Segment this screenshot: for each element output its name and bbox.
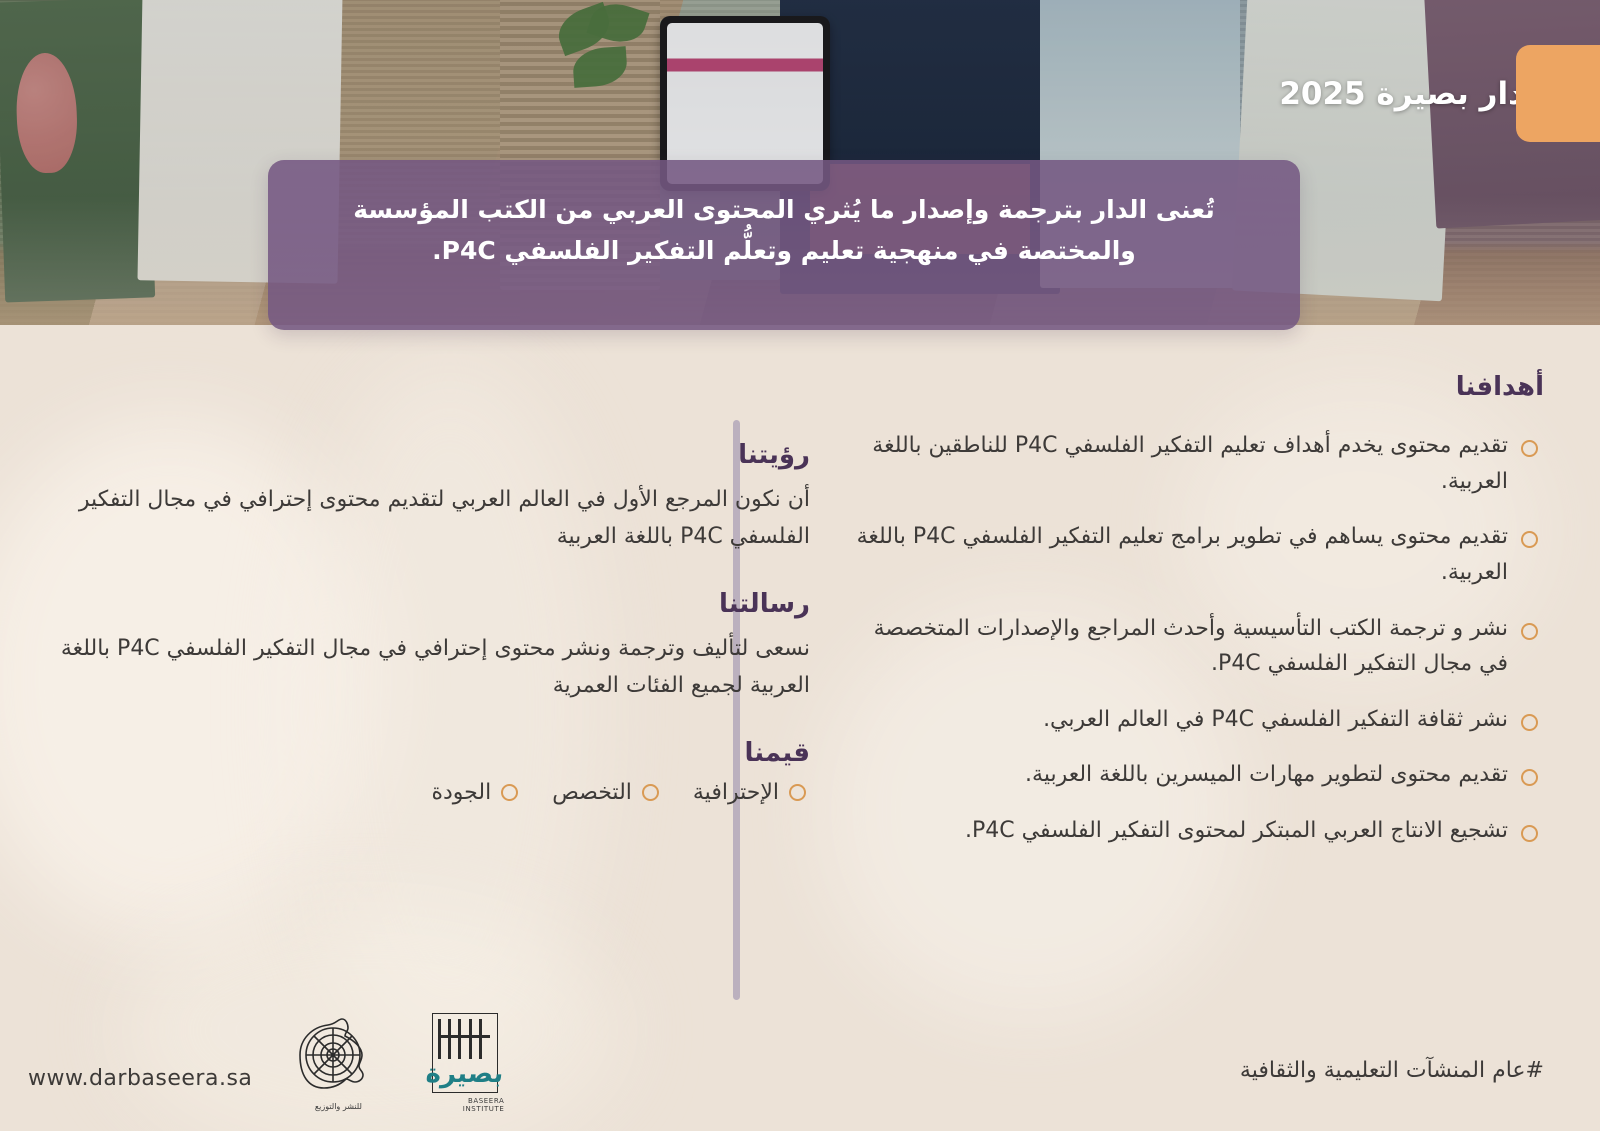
bullet-circle-icon <box>789 784 806 801</box>
website-url: www.darbaseera.sa <box>28 1066 252 1109</box>
list-item: التخصص <box>552 780 659 805</box>
list-item: نشر ثقافة التفكير الفلسفي P4C في العالم … <box>844 702 1544 738</box>
campaign-hashtag: #عام المنشآت التعليمية والثقافية <box>1240 1058 1544 1083</box>
logo-subtitle: للنشر والتوزيع <box>278 1102 398 1111</box>
dar-baseera-logo: للنشر والتوزيع <box>278 1009 398 1109</box>
list-item: الإحترافية <box>693 780 806 805</box>
footer-branding: بصيرة BASEERA INSTITUTE للنشر والتوزيع w… <box>28 1009 504 1109</box>
list-item: الجودة <box>431 780 518 805</box>
value-label: الإحترافية <box>693 780 779 805</box>
vision-text: أن نكون المرجع الأول في العالم العربي لت… <box>60 482 810 555</box>
value-label: التخصص <box>552 780 632 805</box>
goals-heading: أهدافنا <box>844 372 1544 402</box>
list-item: نشر و ترجمة الكتب التأسيسية وأحدث المراج… <box>844 611 1544 682</box>
mission-text: نسعى لتأليف وترجمة ونشر محتوى إحترافي في… <box>60 631 810 704</box>
vision-mission-values-section: رؤيتنا أن نكون المرجع الأول في العالم ال… <box>60 440 810 805</box>
baseera-institute-logo: بصيرة BASEERA INSTITUTE <box>424 1013 504 1109</box>
intro-statement-text: تُعنى الدار بترجمة وإصدار ما يُثري المحت… <box>308 190 1260 271</box>
goals-list: تقديم محتوى يخدم أهداف تعليم التفكير الف… <box>844 428 1544 849</box>
intro-statement-banner: تُعنى الدار بترجمة وإصدار ما يُثري المحت… <box>268 160 1300 330</box>
goals-section: أهدافنا تقديم محتوى يخدم أهداف تعليم الت… <box>844 372 1544 869</box>
values-list: الإحترافية التخصص الجودة <box>60 780 810 805</box>
logo-subtitle: BASEERA INSTITUTE <box>428 1097 504 1113</box>
page-title: دار بصيرة 2025 <box>1279 76 1524 112</box>
list-item: تقديم محتوى يساهم في تطوير برامج تعليم ا… <box>844 519 1544 590</box>
bullet-circle-icon <box>501 784 518 801</box>
vision-heading: رؤيتنا <box>60 440 810 470</box>
kufi-pattern-icon <box>438 1019 490 1059</box>
list-item: تقديم محتوى يخدم أهداف تعليم التفكير الف… <box>844 428 1544 499</box>
list-item: تقديم محتوى لتطوير مهارات الميسرين باللغ… <box>844 757 1544 793</box>
logo-wordmark: بصيرة <box>425 1059 506 1089</box>
value-label: الجودة <box>431 780 491 805</box>
values-heading: قيمنا <box>60 738 810 768</box>
mission-heading: رسالتنا <box>60 589 810 619</box>
bullet-circle-icon <box>642 784 659 801</box>
kufi-pattern-icon <box>438 1035 490 1038</box>
accent-tab <box>1516 45 1600 142</box>
slide-canvas: دار بصيرة 2025 تُعنى الدار بترجمة وإصدار… <box>0 0 1600 1131</box>
list-item: تشجيع الانتاج العربي المبتكر لمحتوى التف… <box>844 813 1544 849</box>
circular-emblem-icon <box>278 1009 398 1101</box>
